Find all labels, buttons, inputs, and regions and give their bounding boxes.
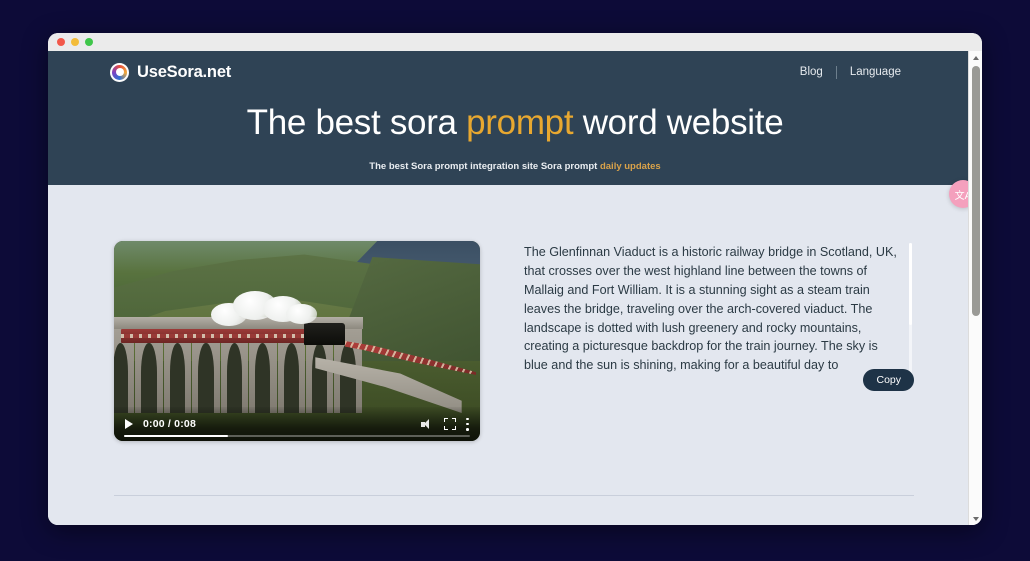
browser-window: UseSora.net Blog Language The best sora … [48,33,982,525]
page-title: The best sora prompt word website [48,103,982,143]
site-header: UseSora.net Blog Language The best sora … [48,51,982,185]
train-carriages [121,329,311,343]
prompt-description-panel: The Glenfinnan Viaduct is a historic rai… [524,241,914,441]
hero-title-part1: The best sora [247,103,467,142]
main-content: 0:00 / 0:08 The Glenfinnan Viaduct is a … [48,185,982,441]
description-scrollbar[interactable] [909,243,912,375]
more-options-icon[interactable] [466,418,469,431]
steam-plume [209,285,326,329]
mute-icon[interactable] [421,419,434,430]
description-scrollbar-thumb[interactable] [909,243,912,325]
video-time-display: 0:00 / 0:08 [143,418,196,430]
prompt-description-text: The Glenfinnan Viaduct is a historic rai… [524,243,914,375]
close-window-button[interactable] [57,38,65,46]
video-control-bar: 0:00 / 0:08 [114,407,480,441]
nav-link-blog[interactable]: Blog [787,66,836,78]
nav-link-language[interactable]: Language [837,66,914,78]
navbar: UseSora.net Blog Language [48,51,982,93]
brand[interactable]: UseSora.net [110,63,231,82]
scroll-down-arrow-icon[interactable] [969,512,982,525]
nav-links: Blog Language [787,66,914,79]
hero-title-part2: word website [573,103,783,142]
page-viewport: UseSora.net Blog Language The best sora … [48,51,982,525]
hero-subtitle-part1: The best Sora prompt integration site So… [369,161,600,172]
page-scrollbar[interactable] [968,51,982,525]
usesora-logo-icon [110,63,129,82]
video-player[interactable]: 0:00 / 0:08 [114,241,480,441]
video-progress-fill [124,435,228,438]
hero: The best sora prompt word website The be… [48,93,982,172]
video-progress-bar[interactable] [124,435,470,438]
browser-titlebar [48,33,982,51]
hero-subtitle: The best Sora prompt integration site So… [48,161,982,172]
hero-title-accent: prompt [466,103,573,142]
scroll-up-arrow-icon[interactable] [969,51,982,64]
hero-subtitle-accent[interactable]: daily updates [600,161,661,172]
fullscreen-icon[interactable] [444,418,456,430]
section-divider [114,495,914,496]
maximize-window-button[interactable] [85,38,93,46]
copy-button[interactable]: Copy [863,369,914,391]
brand-name: UseSora.net [137,63,231,82]
page-scrollbar-thumb[interactable] [972,66,980,316]
minimize-window-button[interactable] [71,38,79,46]
play-icon[interactable] [125,419,133,429]
